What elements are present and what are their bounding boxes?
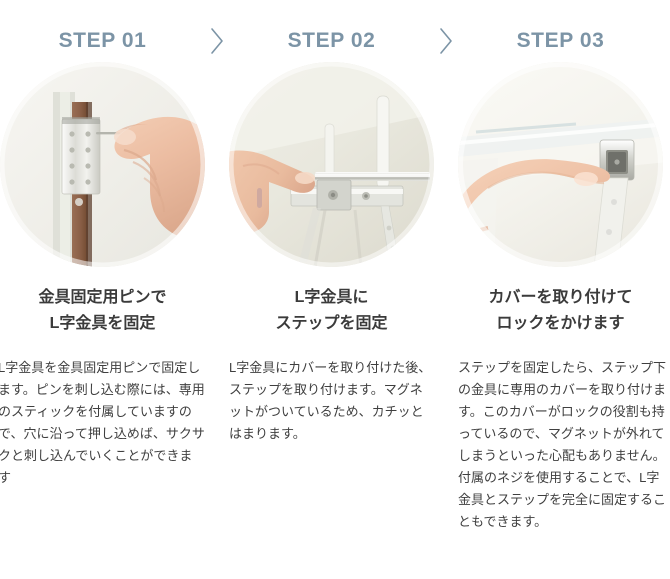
step-label-row: STEP 01 STEP 02 STEP 03	[0, 0, 670, 60]
step-photo-2	[229, 62, 434, 267]
step-body-2: L字金具にカバーを取り付けた後、ステップを取り付けます。マグネットがついているた…	[229, 357, 434, 445]
step-photo-1-image	[0, 62, 205, 267]
step-photo-2-image	[229, 62, 434, 267]
step-label-cell-3: STEP 03	[458, 28, 663, 54]
photo-cell-3	[458, 62, 663, 267]
step-text-row: 金具固定用ピンで L字金具を固定 L字金具を金具固定用ピンで固定します。ピンを刺…	[0, 285, 670, 533]
step-photo-row	[0, 62, 670, 267]
step-heading-1-line1: 金具固定用ピンで	[0, 285, 205, 311]
step-heading-2-line1: L字金具に	[229, 285, 434, 311]
step-label-01: STEP 01	[59, 28, 147, 54]
step-heading-3-line2: ロックをかけます	[458, 311, 663, 337]
step-photo-3	[458, 62, 663, 267]
step-separator-2	[434, 26, 458, 56]
step-heading-3-line1: カバーを取り付けて	[458, 285, 663, 311]
step-body-3: ステップを固定したら、ステップ下の金具に専用のカバーを取り付けます。このカバーが…	[458, 357, 666, 533]
installation-steps-page: STEP 01 STEP 02 STEP 03	[0, 0, 670, 579]
step-text-cell-1: 金具固定用ピンで L字金具を固定 L字金具を金具固定用ピンで固定します。ピンを刺…	[0, 285, 205, 489]
step-heading-2: L字金具に ステップを固定	[229, 285, 434, 337]
step-heading-1: 金具固定用ピンで L字金具を固定	[0, 285, 205, 337]
step-label-03: STEP 03	[517, 28, 605, 54]
step-photo-1	[0, 62, 205, 267]
step-label-02: STEP 02	[288, 28, 376, 54]
step-label-cell-2: STEP 02	[229, 28, 434, 54]
step-text-cell-3: カバーを取り付けて ロックをかけます ステップを固定したら、ステップ下の金具に専…	[458, 285, 663, 533]
step-text-cell-2: L字金具に ステップを固定 L字金具にカバーを取り付けた後、ステップを取り付けま…	[229, 285, 434, 445]
chevron-right-icon	[438, 26, 454, 56]
step-heading-1-line2: L字金具を固定	[0, 311, 205, 337]
step-separator-1	[205, 26, 229, 56]
photo-cell-2	[229, 62, 434, 267]
step-heading-2-line2: ステップを固定	[229, 311, 434, 337]
step-heading-3: カバーを取り付けて ロックをかけます	[458, 285, 663, 337]
step-label-cell-1: STEP 01	[0, 28, 205, 54]
step-body-1: L字金具を金具固定用ピンで固定します。ピンを刺し込む際には、専用のスティックを付…	[0, 357, 205, 489]
step-photo-3-image	[458, 62, 663, 267]
chevron-right-icon	[209, 26, 225, 56]
photo-cell-1	[0, 62, 205, 267]
